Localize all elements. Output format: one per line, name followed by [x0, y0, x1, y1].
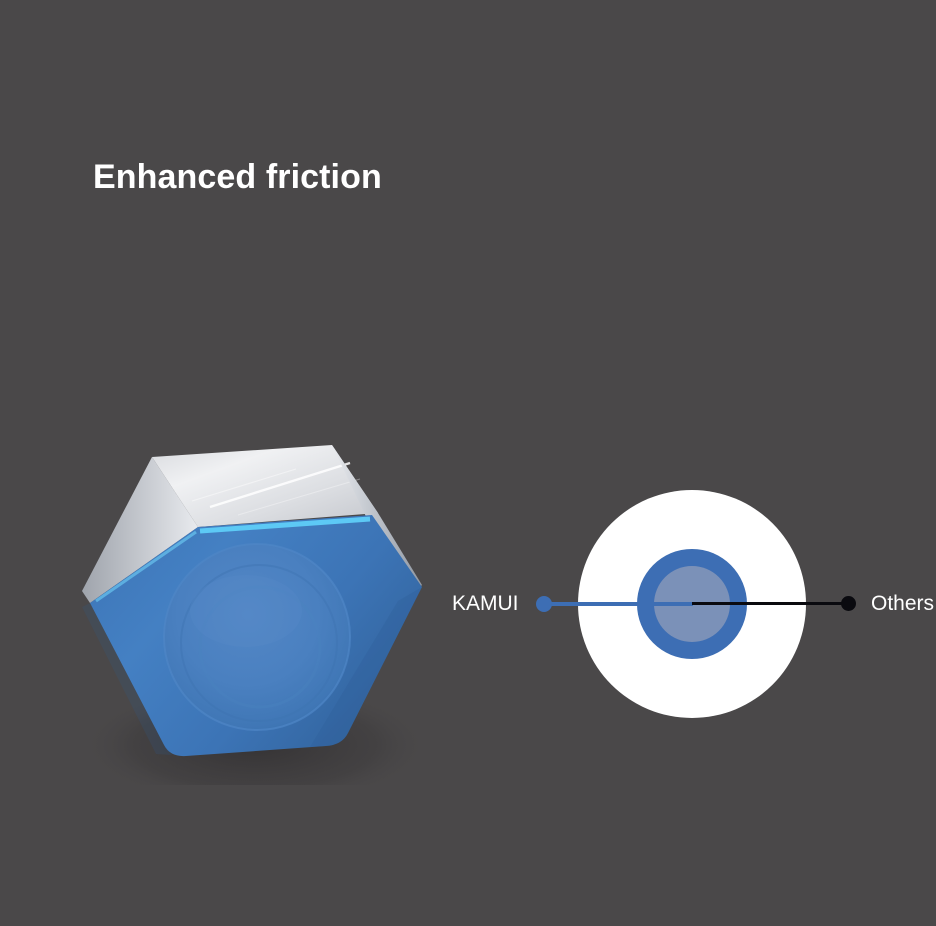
kamui-label: KAMUI — [452, 592, 519, 616]
slide-canvas: Enhanced friction — [0, 0, 936, 926]
chalk-dimple — [164, 544, 350, 730]
kamui-leader-line — [545, 602, 693, 606]
others-leader-line — [692, 602, 850, 605]
kamui-leader-dot — [536, 596, 552, 612]
others-label: Others — [871, 592, 934, 616]
product-photo — [60, 415, 450, 785]
contact-area-diagram: KAMUI Others — [440, 470, 936, 740]
hexagonal-chalk-illustration — [60, 415, 450, 785]
others-leader-dot — [841, 596, 856, 611]
page-title: Enhanced friction — [93, 155, 382, 199]
